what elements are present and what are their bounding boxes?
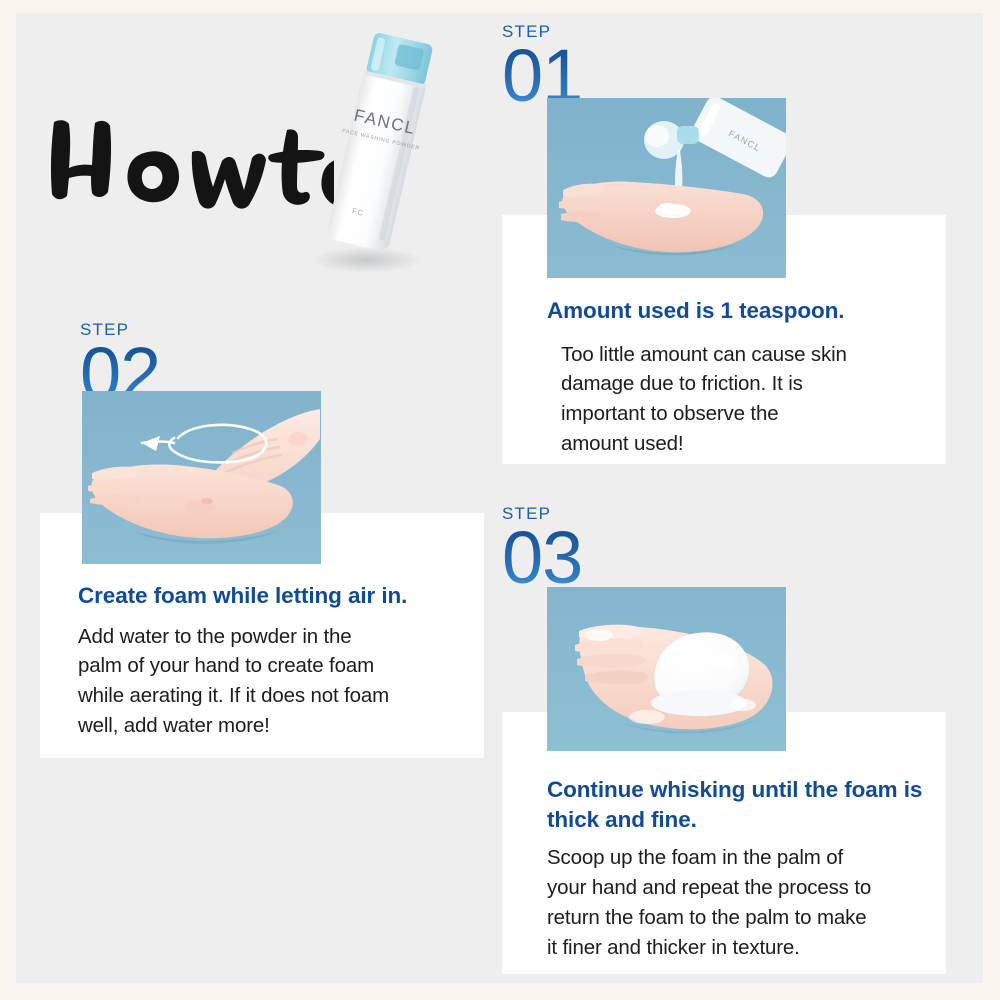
- headline-line: Continue whisking until: [547, 777, 798, 802]
- step-badge-3: STEP 03: [502, 505, 962, 592]
- step-photo-2: [82, 391, 321, 564]
- headline-line: Amount used is 1 teaspoon.: [547, 298, 844, 323]
- step-headline-3: Continue whisking until the foam is thic…: [547, 775, 945, 834]
- body-line: Too little amount can cause skin: [561, 340, 937, 370]
- body-line: return the foam to the palm to make: [547, 903, 945, 933]
- body-line: it finer and thicker in texture.: [547, 933, 945, 963]
- step-text-3: Continue whisking until the foam is thic…: [547, 775, 945, 962]
- product-bottle-image: FANCL FACE WASHING POWDER FC: [294, 23, 474, 283]
- step-headline-2: Create foam while letting air in.: [78, 581, 472, 611]
- step-text-2: Create foam while letting air in. Add wa…: [78, 581, 472, 741]
- body-line: amount used!: [561, 429, 937, 459]
- body-line: Scoop up the foam in the palm of: [547, 843, 945, 873]
- page-title: [44, 108, 334, 218]
- body-line: well, add water more!: [78, 711, 472, 741]
- step-body-1: Too little amount can cause skin damage …: [547, 340, 937, 459]
- body-line: Add water to the powder in the: [78, 622, 472, 652]
- page-canvas: FANCL FACE WASHING POWDER FC STEP 01: [16, 13, 983, 983]
- body-line: palm of your hand to create foam: [78, 651, 472, 681]
- step-headline-1: Amount used is 1 teaspoon.: [547, 296, 937, 326]
- headline-line: Create foam while letting air in.: [78, 583, 407, 608]
- step-body-3: Scoop up the foam in the palm of your ha…: [547, 843, 945, 962]
- body-line: your hand and repeat the process to: [547, 873, 945, 903]
- step-photo-3: [547, 587, 786, 751]
- body-line: important to observe the: [561, 399, 937, 429]
- body-line: while aerating it. If it does not foam: [78, 681, 472, 711]
- step-body-2: Add water to the powder in the palm of y…: [78, 622, 472, 741]
- step-text-1: Amount used is 1 teaspoon. Too little am…: [547, 296, 937, 459]
- step-number-3: 03: [502, 524, 582, 592]
- step-photo-1: FANCL: [547, 98, 786, 278]
- body-line: damage due to friction. It is: [561, 369, 937, 399]
